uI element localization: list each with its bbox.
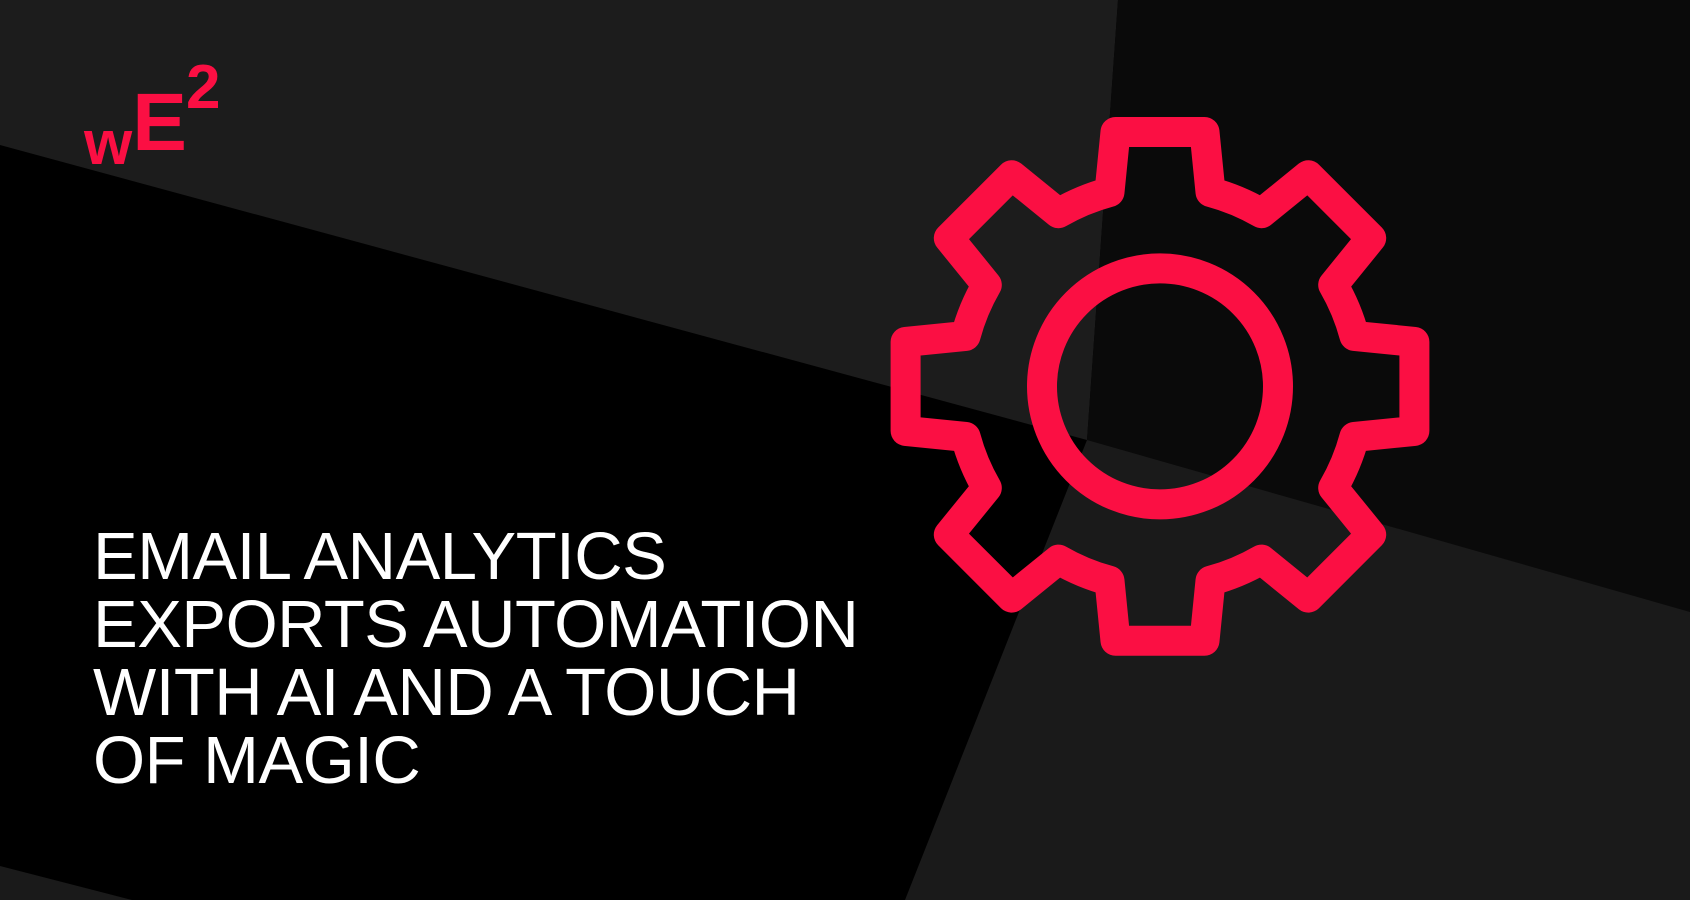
page-title: EMAIL ANALYTICS EXPORTS AUTOMATION WITH … xyxy=(93,523,873,795)
brand-logo[interactable]: wE2 xyxy=(84,96,220,178)
brand-logo-superscript: 2 xyxy=(186,53,220,122)
gear-icon xyxy=(880,118,1440,678)
gear-hub-circle xyxy=(1042,268,1278,504)
brand-logo-e: E xyxy=(132,77,185,168)
brand-logo-w: w xyxy=(84,109,131,178)
poster-canvas: wE2 EMAIL ANALYTICS EXPORTS AUTOMATION W… xyxy=(0,0,1690,900)
gear-outline-path xyxy=(906,132,1415,641)
